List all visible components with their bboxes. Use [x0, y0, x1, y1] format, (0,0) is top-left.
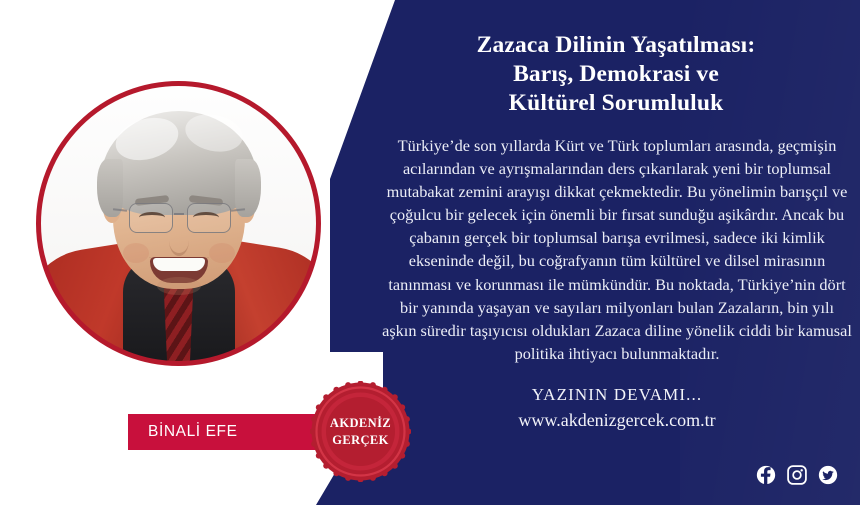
read-more-label: YAZININ DEVAMI...: [382, 383, 852, 407]
instagram-icon[interactable]: [787, 465, 807, 485]
twitter-icon[interactable]: [818, 465, 838, 485]
article-promo-poster: BİNALİ EFE: [0, 0, 860, 505]
website-url[interactable]: www.akdenizgercek.com.tr: [382, 407, 852, 433]
article-headline: Zazaca Dilinin Yaşatılması:Barış, Demokr…: [372, 0, 860, 118]
brand-seal: AKDENİZ GERÇEK: [310, 381, 411, 482]
seal-scallop-edge: [310, 381, 411, 482]
content-column: Zazaca Dilinin Yaşatılması:Barış, Demokr…: [372, 0, 860, 505]
facebook-icon[interactable]: [756, 465, 776, 485]
article-summary: Türkiye’de son yıllarda Kürt ve Türk top…: [372, 118, 860, 365]
author-portrait: [36, 81, 321, 366]
call-to-action: YAZININ DEVAMI... www.akdenizgercek.com.…: [372, 365, 860, 433]
author-name-label: BİNALİ EFE: [128, 423, 238, 441]
portrait-photo: [40, 85, 317, 362]
social-links: [756, 465, 838, 485]
author-name-banner: BİNALİ EFE: [128, 414, 323, 450]
